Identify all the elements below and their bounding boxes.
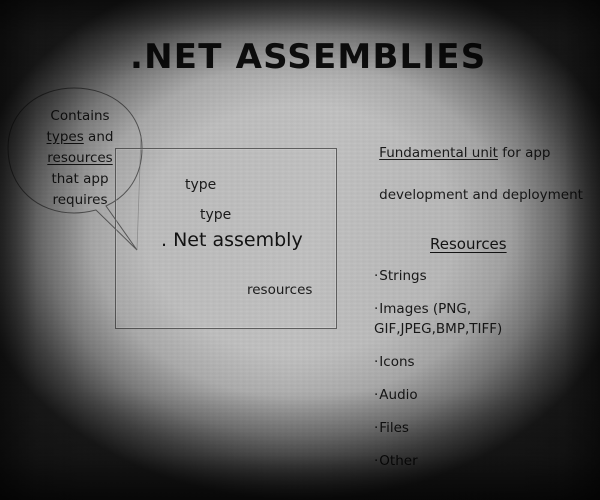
bullet-icon: · — [374, 268, 378, 284]
list-item: ·Files — [374, 418, 584, 438]
resources-list: ·Strings ·Images (PNG, GIF,JPEG,BMP,TIFF… — [374, 266, 584, 484]
list-item-label: Audio — [379, 387, 417, 403]
callout-line-2: types and — [30, 127, 130, 148]
fundamental-unit-rest: for app — [498, 145, 551, 161]
assembly-resources-label: resources — [247, 283, 312, 299]
list-item: ·Audio — [374, 385, 584, 405]
bullet-icon: · — [374, 420, 378, 436]
list-item: ·Strings — [374, 266, 584, 286]
callout-line-1: Contains — [30, 106, 130, 127]
assembly-type-label-1: type — [185, 177, 216, 193]
list-item: ·Images (PNG, GIF,JPEG,BMP,TIFF) — [374, 299, 584, 339]
slide-canvas: .NET ASSEMBLIES Contains types and resou… — [0, 0, 600, 500]
list-item: ·Other — [374, 451, 584, 471]
list-item-label: Strings — [379, 268, 426, 284]
list-item-label: Files — [379, 420, 409, 436]
assembly-name-label: . Net assembly — [161, 230, 303, 252]
resources-heading: Resources — [430, 236, 507, 253]
bullet-icon: · — [374, 453, 378, 469]
assembly-type-label-2: type — [200, 207, 231, 223]
fundamental-unit-underlined: Fundamental unit — [379, 145, 498, 161]
bullet-icon: · — [374, 387, 378, 403]
list-item-label: Icons — [379, 354, 414, 370]
fundamental-unit-note: Fundamental unit for app development and… — [362, 122, 577, 227]
list-item-label: Images (PNG, GIF,JPEG,BMP,TIFF) — [374, 301, 502, 337]
fundamental-unit-line2: development and deployment — [379, 187, 583, 203]
bullet-icon: · — [374, 354, 378, 370]
list-item-label: Other — [379, 453, 417, 469]
list-item: ·Icons — [374, 352, 584, 372]
page-title: .NET ASSEMBLIES — [130, 38, 486, 77]
bullet-icon: · — [374, 301, 378, 317]
